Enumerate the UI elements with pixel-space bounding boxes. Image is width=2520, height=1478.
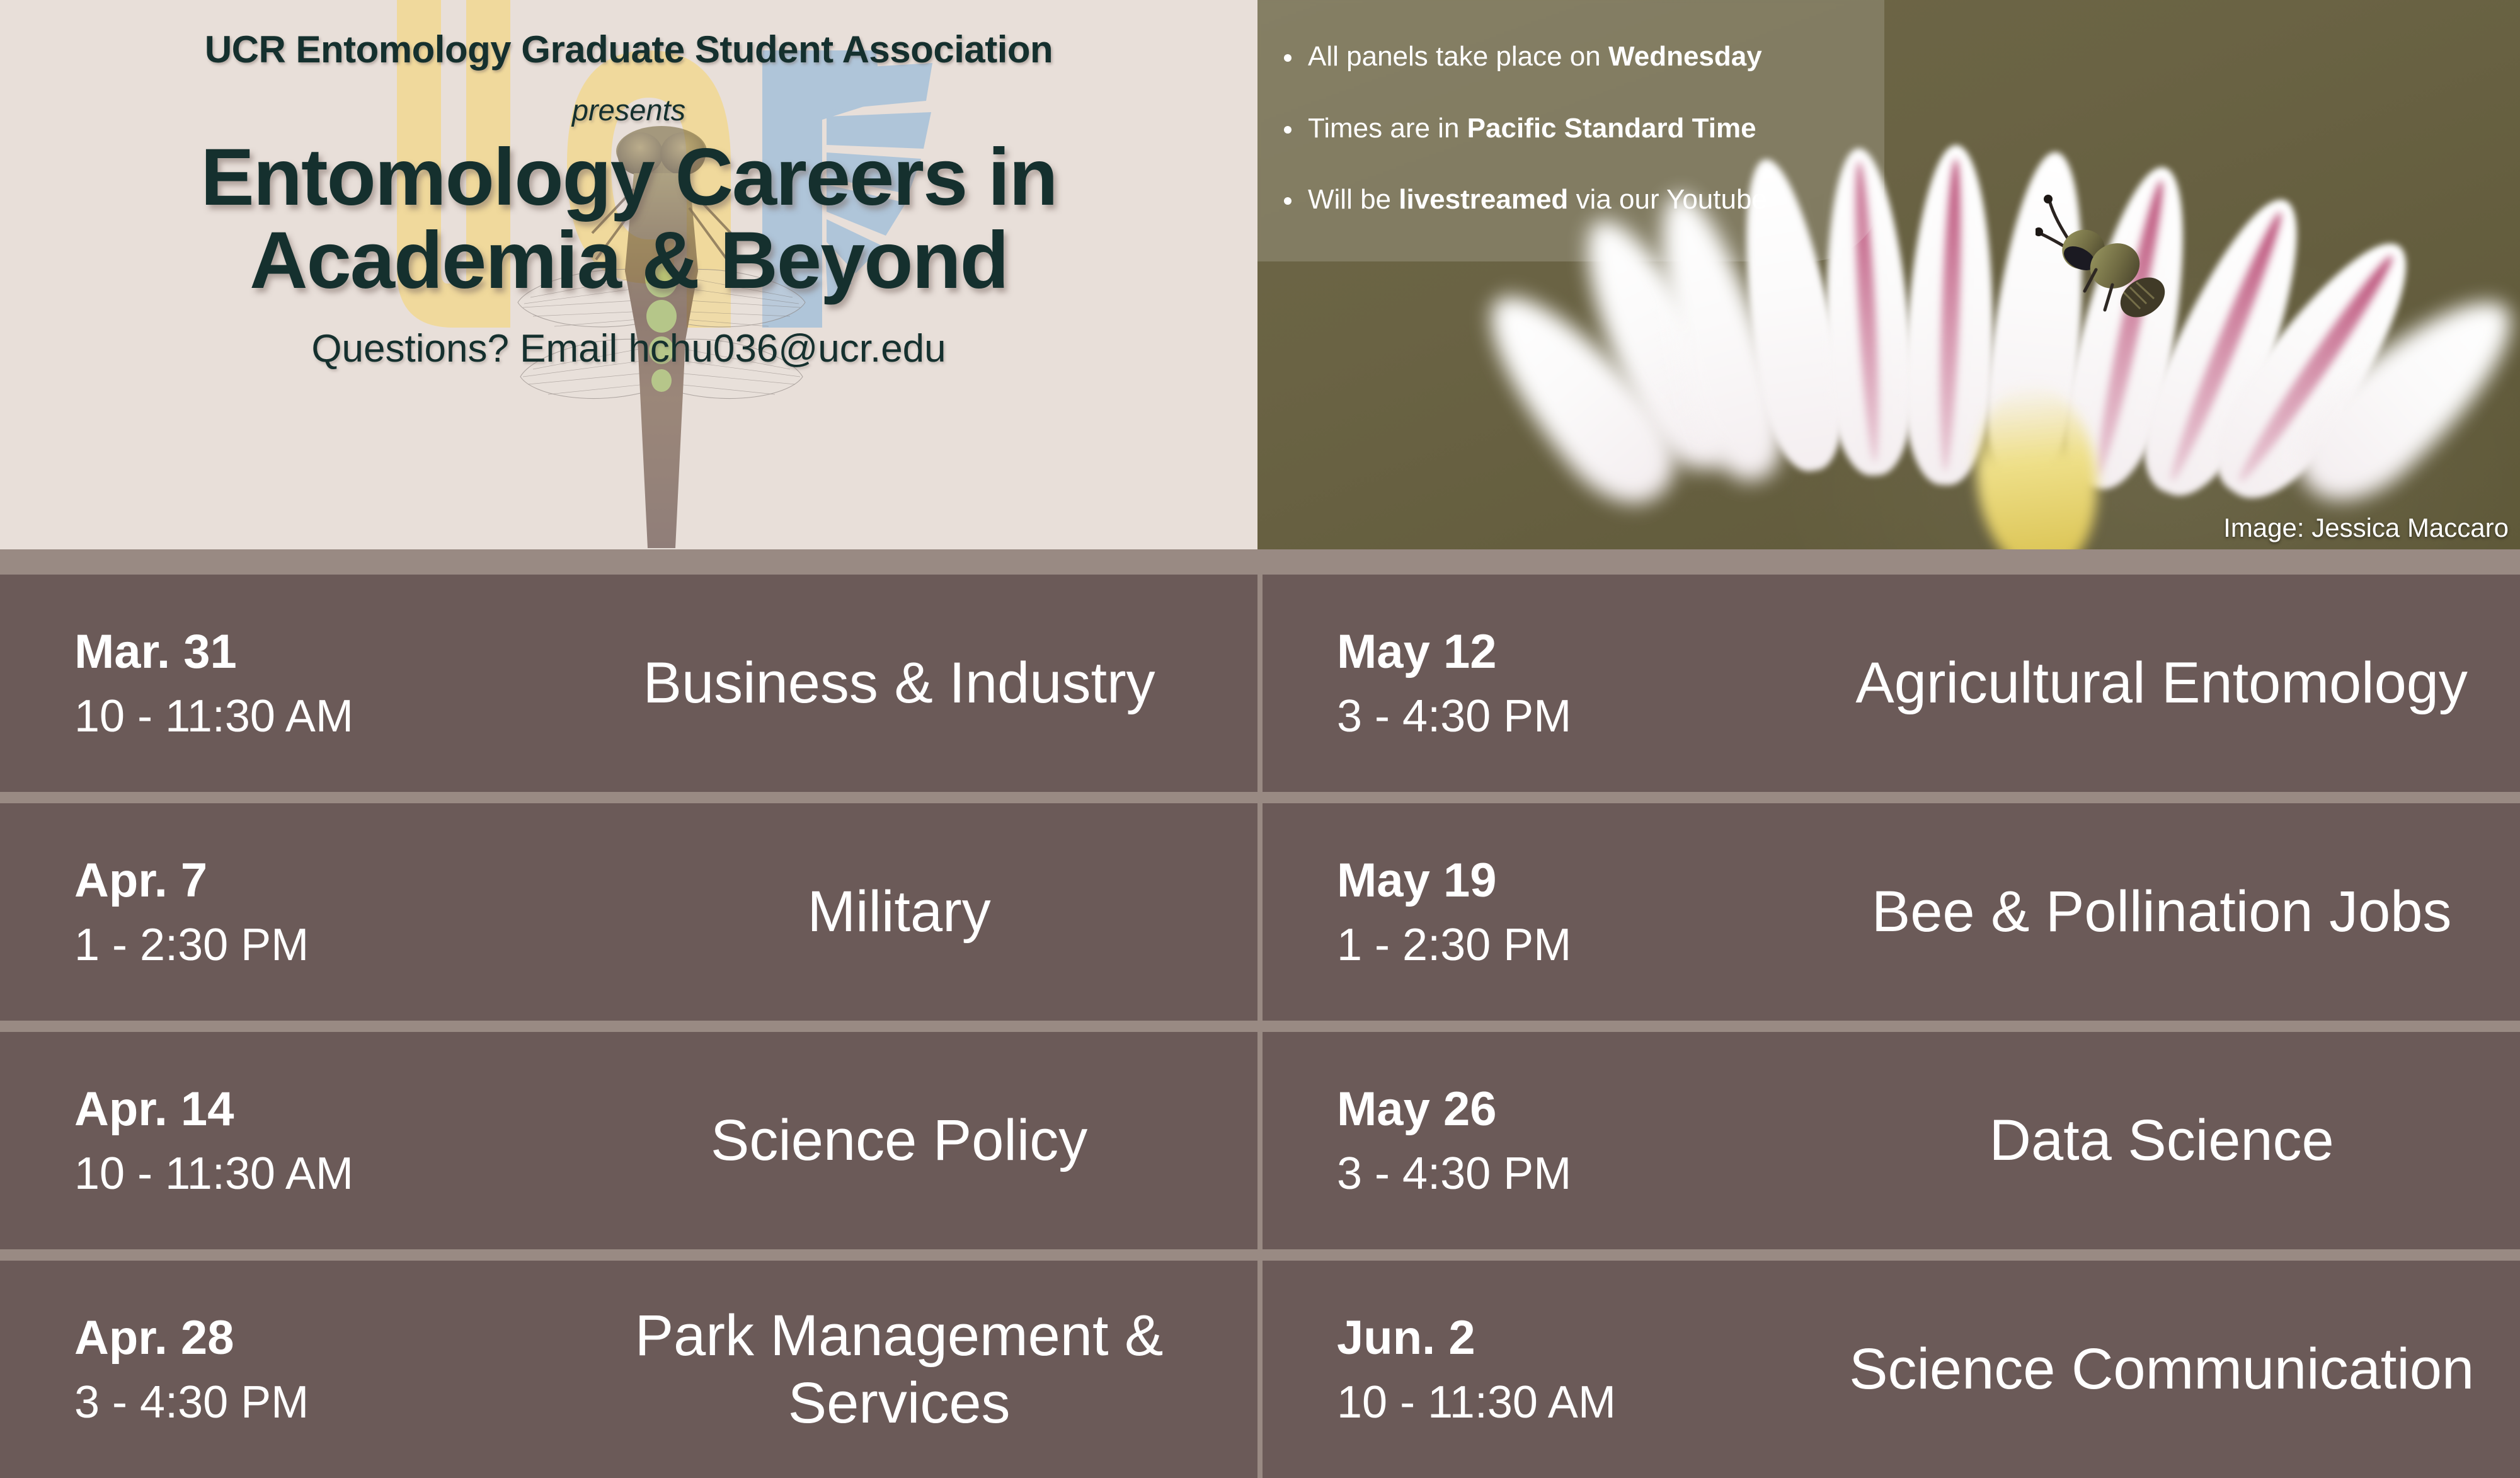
schedule-time: 3 - 4:30 PM xyxy=(74,1380,541,1425)
bullet-pre: All panels take place on xyxy=(1308,41,1608,72)
schedule-date: May 19 xyxy=(1337,857,1803,905)
schedule-topic: Science Policy xyxy=(541,1107,1257,1174)
panel-schedule-grid: Mar. 31 10 - 11:30 AM Business & Industr… xyxy=(0,549,2520,1418)
schedule-date: Apr. 14 xyxy=(74,1086,541,1133)
schedule-date: Apr. 7 xyxy=(74,857,541,905)
bee-photo-panel: All panels take place on Wednesday Times… xyxy=(1257,0,2520,549)
schedule-date: Mar. 31 xyxy=(74,628,541,676)
title-line-1: Entomology Careers in xyxy=(200,136,1057,219)
title-line-2: Academia & Beyond xyxy=(200,219,1057,302)
bullet-pre: Will be xyxy=(1308,184,1399,215)
schedule-time: 10 - 11:30 AM xyxy=(74,1151,541,1196)
list-item: Will be livestreamed via our Youtube xyxy=(1284,183,1889,217)
schedule-topic: Science Communication xyxy=(1803,1336,2520,1403)
table-row[interactable]: May 19 1 - 2:30 PM Bee & Pollination Job… xyxy=(1263,803,2520,1021)
column-divider xyxy=(1257,1032,1263,1249)
table-row[interactable]: May 12 3 - 4:30 PM Agricultural Entomolo… xyxy=(1263,575,2520,792)
schedule-when: Mar. 31 10 - 11:30 AM xyxy=(0,628,541,739)
table-row[interactable]: Jun. 2 10 - 11:30 AM Science Communicati… xyxy=(1263,1261,2520,1478)
schedule-topic: Business & Industry xyxy=(541,650,1257,717)
schedule-topic: Data Science xyxy=(1803,1107,2520,1174)
info-bullet-list: All panels take place on Wednesday Times… xyxy=(1284,0,1889,271)
schedule-date: May 12 xyxy=(1337,628,1803,676)
table-row[interactable]: May 26 3 - 4:30 PM Data Science xyxy=(1263,1032,2520,1249)
presents-label: presents xyxy=(572,93,685,127)
image-credit: Image: Jessica Maccaro xyxy=(2223,513,2509,543)
schedule-when: Apr. 14 10 - 11:30 AM xyxy=(0,1086,541,1196)
table-row[interactable]: Apr. 14 10 - 11:30 AM Science Policy xyxy=(0,1032,1257,1249)
schedule-when: May 26 3 - 4:30 PM xyxy=(1263,1086,1803,1196)
bullet-dot-icon xyxy=(1284,54,1291,62)
column-divider xyxy=(1257,803,1263,1021)
list-item: All panels take place on Wednesday xyxy=(1284,40,1889,74)
schedule-topic: Military xyxy=(541,878,1257,946)
page-title: Entomology Careers in Academia & Beyond xyxy=(200,136,1057,302)
schedule-topic: Bee & Pollination Jobs xyxy=(1803,878,2520,946)
organization-name: UCR Entomology Graduate Student Associat… xyxy=(205,28,1053,71)
table-row[interactable]: Mar. 31 10 - 11:30 AM Business & Industr… xyxy=(0,575,1257,792)
bullet-strong: livestreamed xyxy=(1399,184,1568,215)
schedule-when: Apr. 28 3 - 4:30 PM xyxy=(0,1314,541,1425)
poster-header: UCR Entomology Graduate Student Associat… xyxy=(0,0,2520,549)
schedule-time: 10 - 11:30 AM xyxy=(74,694,541,739)
column-divider xyxy=(1257,575,1263,792)
bullet-strong: Pacific Standard Time xyxy=(1467,113,1756,144)
table-row[interactable]: Apr. 7 1 - 2:30 PM Military xyxy=(0,803,1257,1021)
schedule-time: 10 - 11:30 AM xyxy=(1337,1380,1803,1425)
bullet-pre: Times are in xyxy=(1308,113,1467,144)
schedule-when: May 12 3 - 4:30 PM xyxy=(1263,628,1803,739)
schedule-date: May 26 xyxy=(1337,1086,1803,1133)
schedule-date: Jun. 2 xyxy=(1337,1314,1803,1362)
schedule-time: 3 - 4:30 PM xyxy=(1337,1151,1803,1196)
list-item: Times are in Pacific Standard Time xyxy=(1284,112,1889,146)
table-row[interactable]: Apr. 28 3 - 4:30 PM Park Management & Se… xyxy=(0,1261,1257,1478)
bee-icon xyxy=(2036,189,2180,334)
bullet-post: via our Youtube xyxy=(1568,184,1767,215)
schedule-when: Apr. 7 1 - 2:30 PM xyxy=(0,857,541,968)
schedule-date: Apr. 28 xyxy=(74,1314,541,1362)
schedule-when: Jun. 2 10 - 11:30 AM xyxy=(1263,1314,1803,1425)
bullet-dot-icon xyxy=(1284,126,1291,134)
schedule-time: 1 - 2:30 PM xyxy=(74,922,541,968)
schedule-topic: Agricultural Entomology xyxy=(1803,650,2520,717)
schedule-time: 3 - 4:30 PM xyxy=(1337,694,1803,739)
schedule-when: May 19 1 - 2:30 PM xyxy=(1263,857,1803,968)
title-panel: UCR Entomology Graduate Student Associat… xyxy=(0,0,1257,549)
schedule-topic: Park Management & Services xyxy=(541,1302,1257,1436)
column-divider xyxy=(1257,1261,1263,1478)
contact-email: Questions? Email hchu036@ucr.edu xyxy=(311,326,946,371)
bullet-strong: Wednesday xyxy=(1608,41,1762,72)
bullet-dot-icon xyxy=(1284,197,1291,205)
schedule-time: 1 - 2:30 PM xyxy=(1337,922,1803,968)
